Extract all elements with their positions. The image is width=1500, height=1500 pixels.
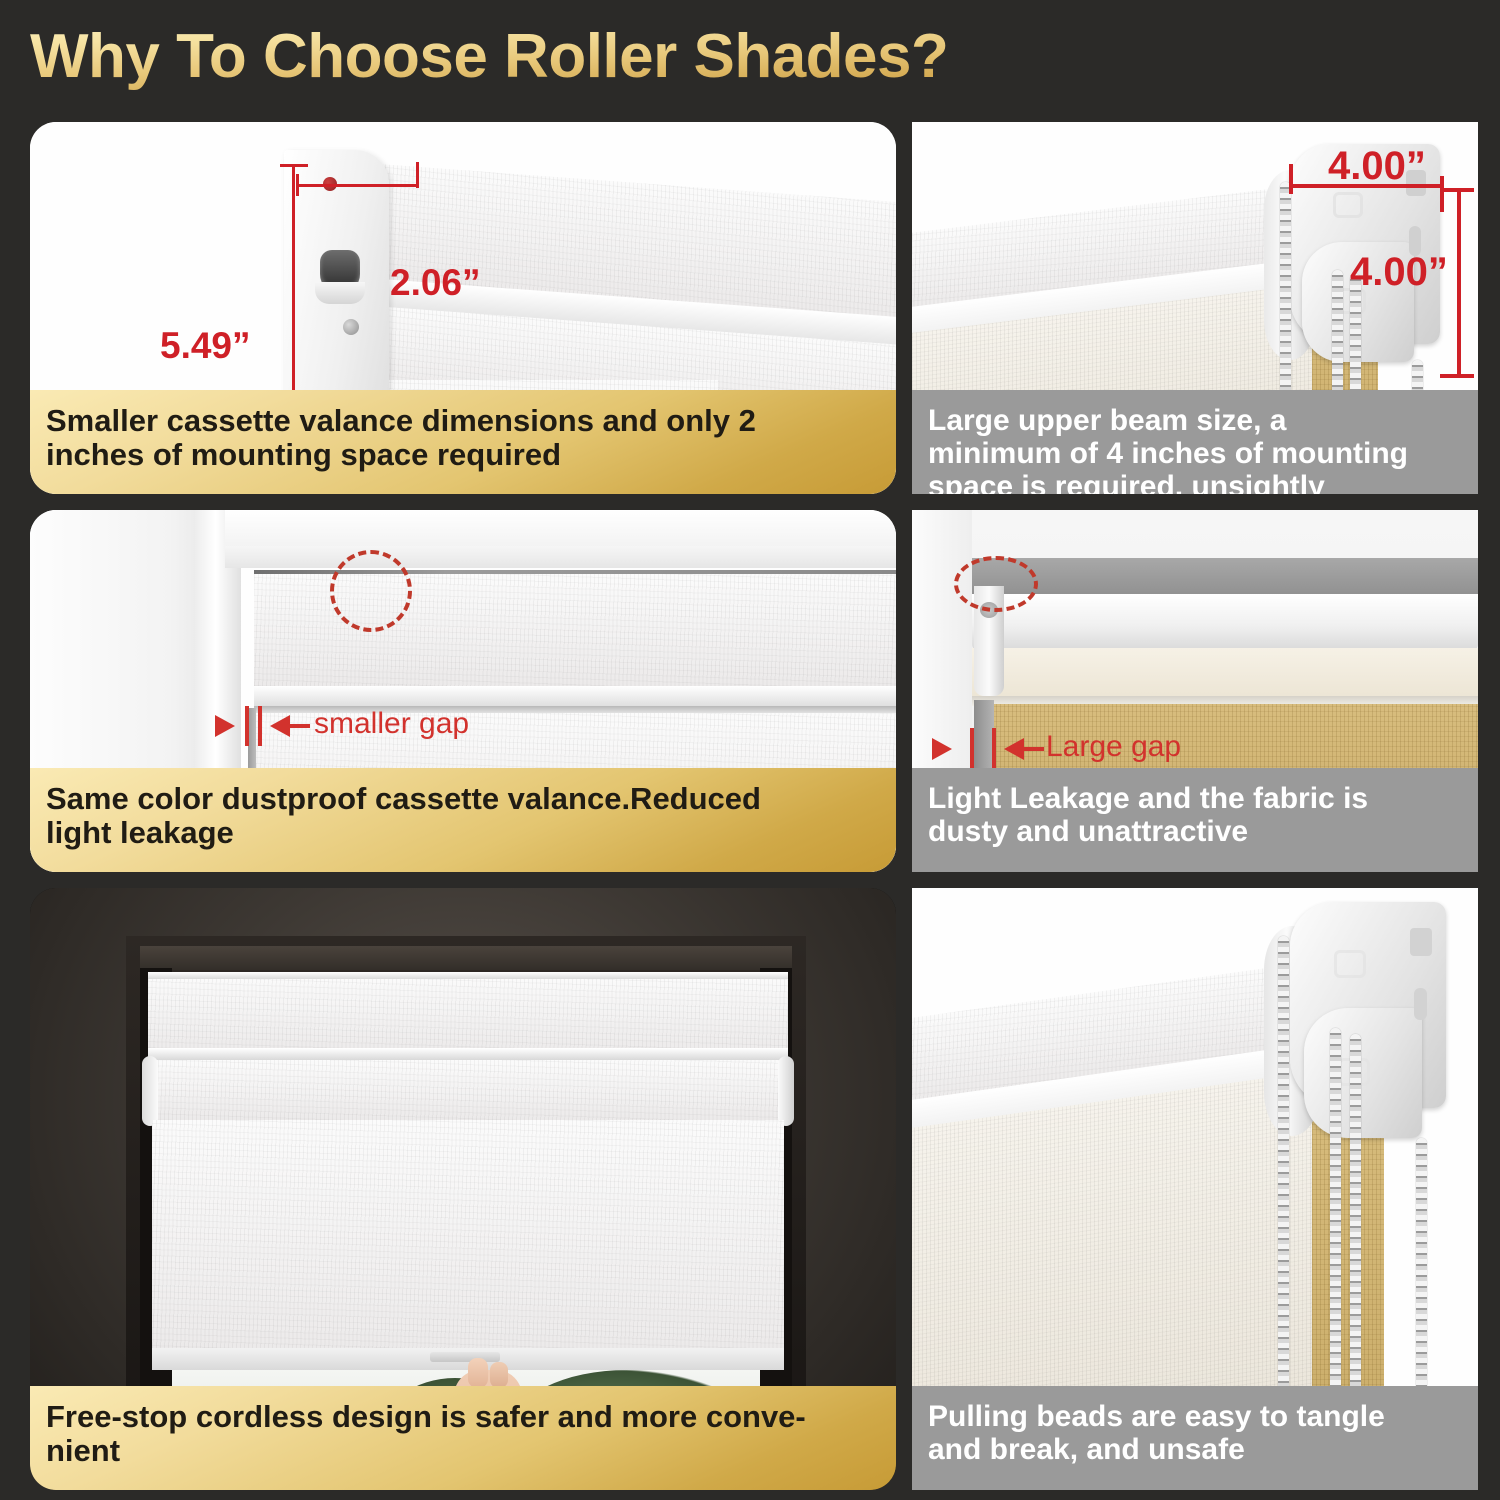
caption-bottom-left: Free-stop cordless design is safer and m… [30,1386,896,1490]
caption-line: light leakage [46,816,761,850]
caption-line: dusty and unattractive [928,815,1368,848]
highlight-circle [954,556,1038,612]
dimension-label-width: 2.06” [390,262,481,304]
panel-mid-right: Large gap Light Leakage and the fabric i… [912,510,1478,872]
caption-top-left: Smaller cassette valance dimensions and … [30,390,896,494]
caption-line: Pulling beads are easy to tangle [928,1400,1385,1433]
gap-label: smaller gap [314,707,469,741]
panel-top-right: 4.00” 4.00” Large upper beam size, a min… [912,122,1478,494]
gap-arrow-left [215,715,235,737]
panel-mid-left: smaller gap Same color dustproof cassett… [30,510,896,872]
caption-line: Light Leakage and the fabric is [928,782,1368,815]
caption-mid-left: Same color dustproof cassette valance.Re… [30,768,896,872]
caption-top-right: Large upper beam size, a minimum of 4 in… [912,390,1478,494]
caption-line: Same color dustproof cassette valance.Re… [46,782,761,816]
comparison-grid: 5.49” 2.06” Smaller cassette valance dim… [0,112,1500,1500]
dimension-label-height: 4.00” [1350,250,1448,295]
dimension-label-height: 5.49” [160,325,251,367]
panel-bottom-left: Free-stop cordless design is safer and m… [30,888,896,1490]
panel-top-left: 5.49” 2.06” Smaller cassette valance dim… [30,122,896,494]
caption-line: Large upper beam size, a [928,404,1408,437]
page-title: Why To Choose Roller Shades? [30,21,948,92]
caption-line: Free-stop cordless design is safer and m… [46,1400,806,1434]
gap-label: Large gap [1046,730,1181,764]
header-bar: Why To Choose Roller Shades? [0,0,1500,112]
caption-line: nient [46,1434,806,1468]
caption-mid-right: Light Leakage and the fabric is dusty an… [912,768,1478,872]
caption-line: inches of mounting space required [46,438,756,472]
caption-line: minimum of 4 inches of mounting [928,437,1408,470]
highlight-circle [330,550,412,632]
panel-bottom-right: Pulling beads are easy to tangle and bre… [912,888,1478,1490]
caption-line: space is required, unsightly [928,470,1408,494]
gap-arrow-left [932,738,952,760]
caption-line: Smaller cassette valance dimensions and … [46,404,756,438]
dimension-label-width: 4.00” [1328,144,1426,189]
caption-bottom-right: Pulling beads are easy to tangle and bre… [912,1386,1478,1490]
caption-line: and break, and unsafe [928,1433,1385,1466]
